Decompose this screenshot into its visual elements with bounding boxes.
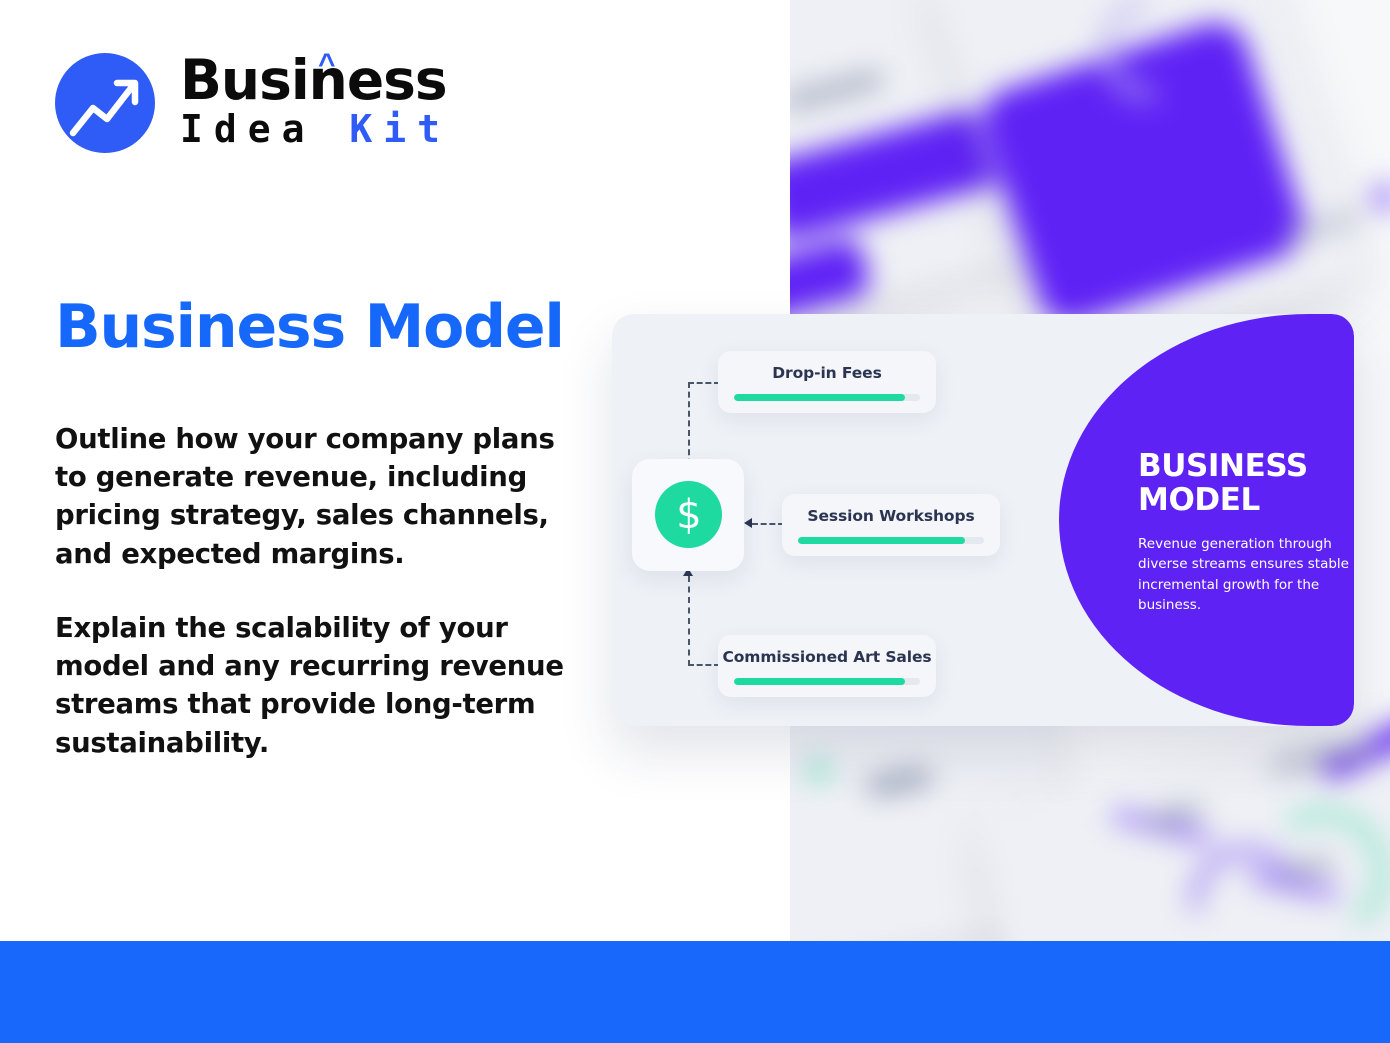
panel-description: Revenue generation through diverse strea… — [1138, 534, 1354, 616]
slide-canvas: Business ^ Idea Kit Business Model Outli… — [0, 0, 1390, 1043]
node-progress-track — [734, 678, 920, 685]
footer-bar — [0, 941, 1390, 1043]
panel-title: BUSINESS MODEL — [1138, 449, 1354, 518]
node-progress-fill — [734, 394, 905, 401]
page-title: Business Model — [55, 296, 564, 359]
panel-title-line-1: BUSINESS — [1138, 448, 1308, 484]
revenue-stream-node[interactable]: Drop-in Fees — [718, 351, 936, 413]
svg-text:$: $ — [676, 493, 701, 537]
brand-kit-text: Kit — [349, 107, 451, 151]
node-progress-fill — [734, 678, 905, 685]
node-label: Drop-in Fees — [772, 364, 881, 382]
brand-wordmark: Business ^ Idea Kit — [180, 54, 451, 152]
trending-up-arrow-icon — [55, 53, 155, 153]
purple-panel-content: BUSINESS MODEL Revenue generation throug… — [1138, 449, 1354, 616]
dollar-sign-icon: $ — [655, 481, 722, 548]
purple-highlight-panel: BUSINESS MODEL Revenue generation throug… — [1059, 314, 1354, 726]
revenue-center-node[interactable]: $ — [632, 459, 744, 571]
connector-arrow-middle — [744, 518, 752, 528]
revenue-stream-node[interactable]: Commissioned Art Sales — [718, 635, 936, 697]
revenue-model-diagram-card: BUSINESS MODEL Revenue generation throug… — [612, 314, 1354, 726]
node-label: Commissioned Art Sales — [722, 648, 931, 666]
panel-title-line-2: MODEL — [1138, 482, 1260, 518]
body-paragraph-1: Outline how your company plans to genera… — [55, 420, 595, 573]
node-progress-track — [734, 394, 920, 401]
brand-idea-text: Idea — [180, 107, 316, 151]
brand-name-primary: Business — [180, 54, 451, 106]
connector-line-top-horizontal — [688, 382, 720, 384]
circumflex-accent-icon: ^ — [318, 50, 336, 80]
connector-line-bottom-horizontal — [688, 664, 720, 666]
body-paragraph-2: Explain the scalability of your model an… — [55, 609, 595, 762]
connector-line-bottom-vertical — [688, 576, 690, 666]
brand-logo: Business ^ Idea Kit — [55, 53, 451, 153]
connector-line-middle-horizontal — [752, 523, 784, 525]
brand-name-secondary: Idea Kit — [180, 108, 451, 152]
node-progress-track — [798, 537, 984, 544]
revenue-stream-node[interactable]: Session Workshops — [782, 494, 1000, 556]
node-progress-fill — [798, 537, 965, 544]
node-label: Session Workshops — [807, 507, 974, 525]
